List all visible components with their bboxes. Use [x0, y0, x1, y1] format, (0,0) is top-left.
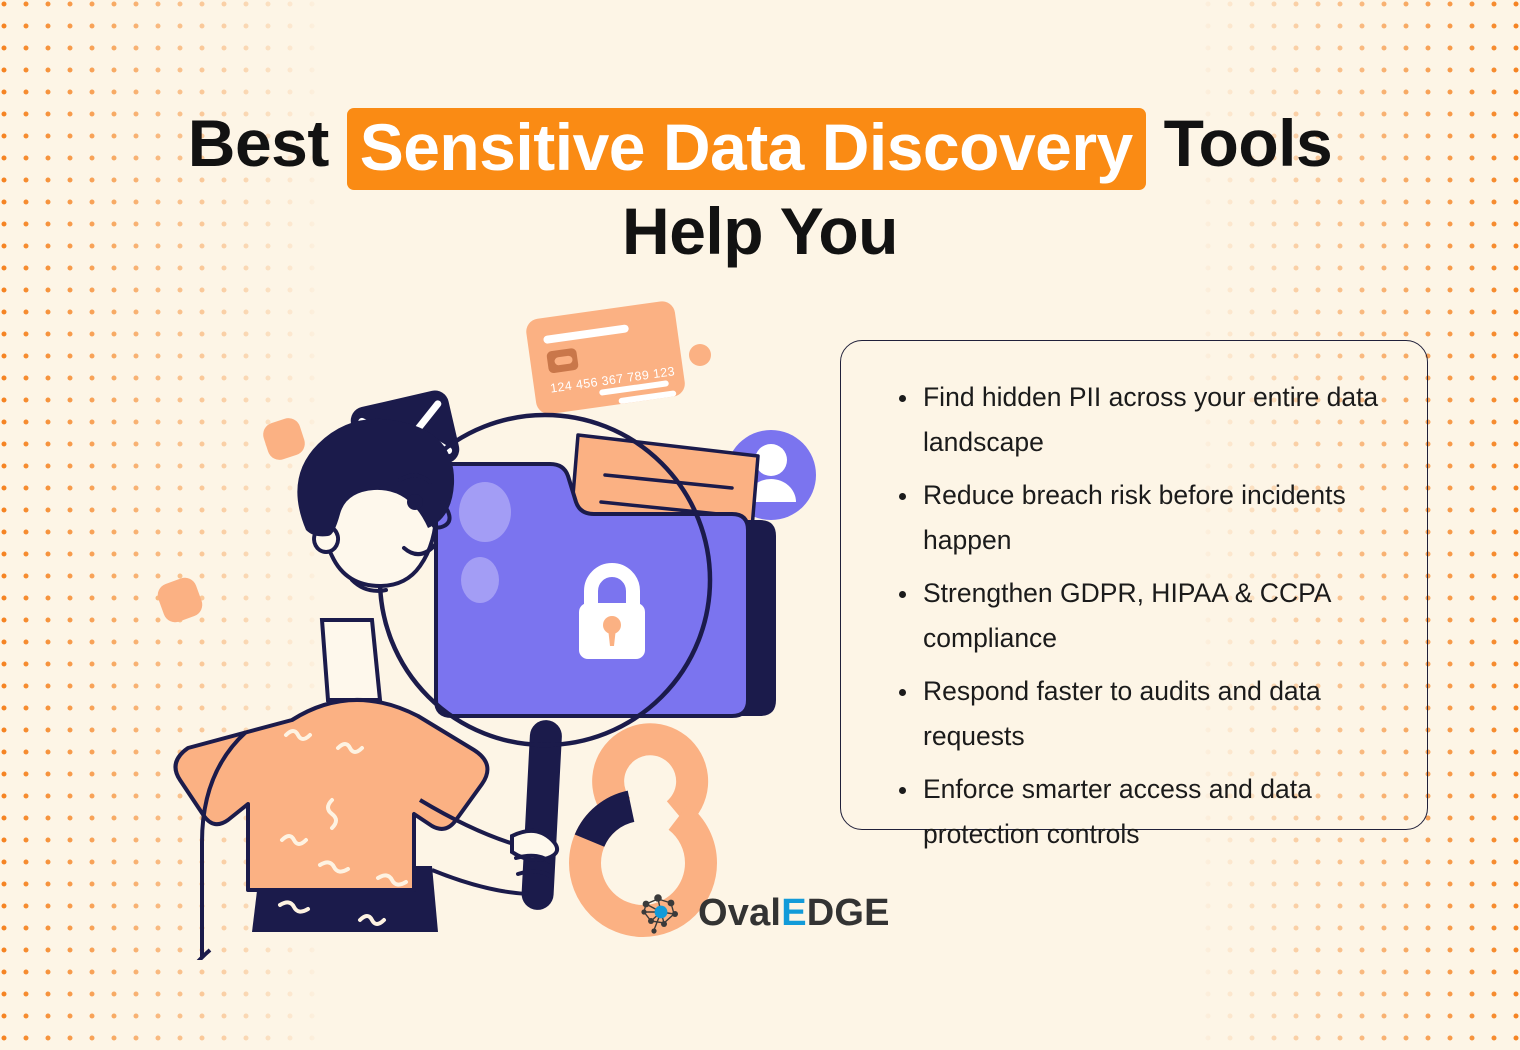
logo-wordmark: OvalEDGE	[698, 894, 890, 932]
title-word-tools: Tools	[1164, 106, 1333, 180]
donut-chart-icon	[568, 700, 731, 921]
list-item: Enforce smarter access and data protecti…	[897, 767, 1391, 857]
title-line-1: Best Sensitive Data Discovery Tools	[0, 104, 1520, 186]
list-item: Respond faster to audits and data reques…	[897, 669, 1391, 759]
list-item: Reduce breach risk before incidents happ…	[897, 473, 1391, 563]
ovaledge-logo[interactable]: OvalEDGE	[638, 890, 890, 936]
benefits-list: Find hidden PII across your entire data …	[841, 341, 1427, 857]
benefits-card: Find hidden PII across your entire data …	[840, 340, 1428, 830]
list-item: Find hidden PII across your entire data …	[897, 375, 1391, 465]
logo-text-dge: DGE	[807, 892, 890, 934]
decorative-dot	[689, 344, 711, 366]
page-title: Best Sensitive Data Discovery Tools Help…	[0, 104, 1520, 266]
title-highlight: Sensitive Data Discovery	[347, 108, 1146, 190]
logo-text-oval: Oval	[698, 892, 781, 934]
title-line-2: Help You	[0, 198, 1520, 266]
credit-card-icon: 124 456 367 789 123	[525, 300, 687, 416]
logo-text-e: E	[781, 892, 807, 934]
network-nodes-icon	[638, 890, 684, 936]
title-word-best: Best	[188, 106, 329, 180]
sensitive-data-illustration: 124 456 367 789 123	[60, 280, 860, 960]
decorative-square	[154, 574, 205, 625]
decorative-square	[260, 415, 308, 463]
list-item: Strengthen GDPR, HIPAA & CCPA compliance	[897, 571, 1391, 661]
